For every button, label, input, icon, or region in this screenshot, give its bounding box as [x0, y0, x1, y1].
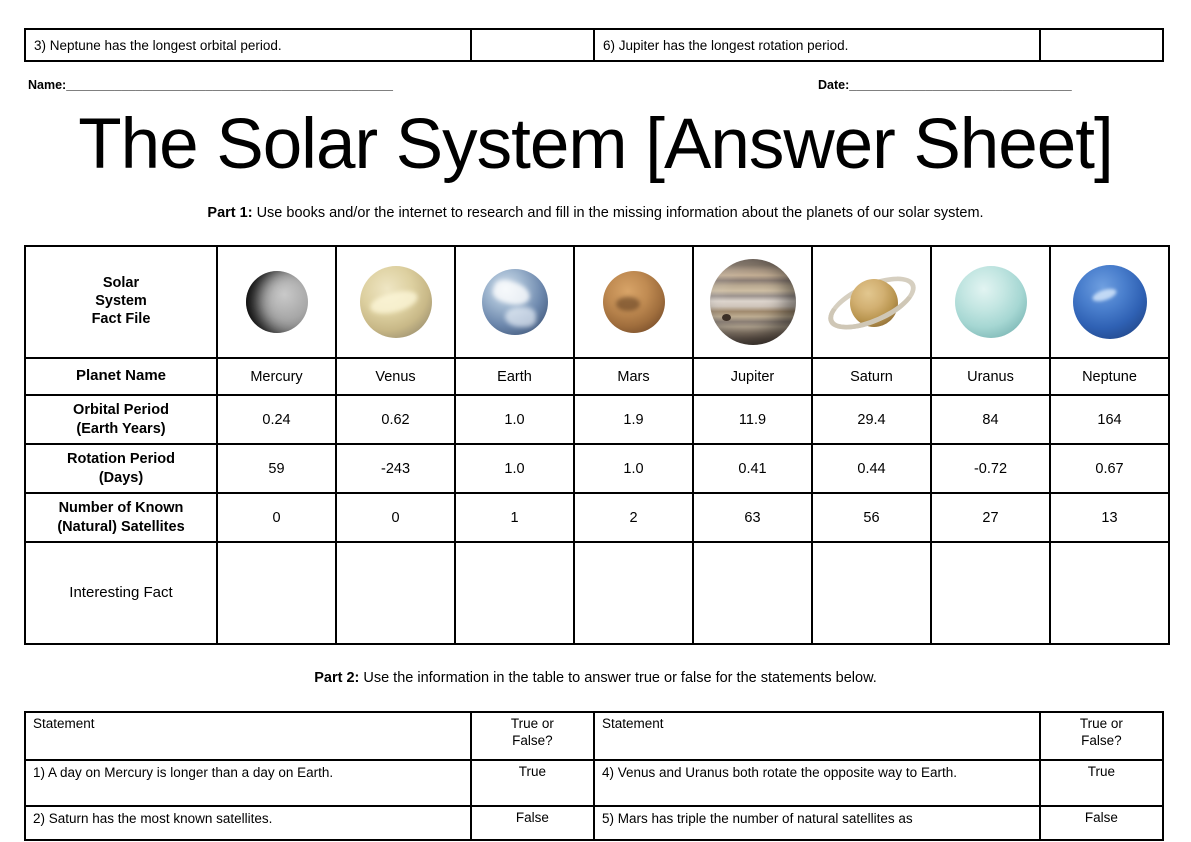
answer-cell-5[interactable]: False	[1040, 806, 1163, 840]
fact-file-title-line-1: Solar	[26, 275, 216, 293]
date-field[interactable]: Date:________________________________	[818, 78, 1072, 92]
planet-image-row: Solar System Fact File	[25, 246, 1169, 358]
orbital-period-earth[interactable]: 1.0	[455, 395, 574, 444]
answer-cell-3[interactable]	[471, 29, 594, 61]
venus-planet-icon	[360, 266, 432, 338]
statement-cell-1: 1) A day on Mercury is longer than a day…	[25, 760, 471, 806]
planet-image-cell-neptune	[1050, 246, 1169, 358]
rotation-period-earth[interactable]: 1.0	[455, 444, 574, 493]
row-label-interesting-fact: Interesting Fact	[25, 542, 217, 644]
satellites-neptune[interactable]: 13	[1050, 493, 1169, 542]
statement-cell-4: 4) Venus and Uranus both rotate the oppo…	[594, 760, 1040, 806]
part2-text: Use the information in the table to answ…	[359, 670, 876, 686]
part1-instruction: Part 1: Use books and/or the internet to…	[0, 205, 1191, 221]
solar-system-fact-file-table: Solar System Fact File	[24, 245, 1170, 645]
interesting-fact-venus[interactable]	[336, 542, 455, 644]
uranus-planet-icon	[955, 266, 1027, 338]
planet-image-cell-earth	[455, 246, 574, 358]
interesting-fact-mercury[interactable]	[217, 542, 336, 644]
orbital-period-neptune[interactable]: 164	[1050, 395, 1169, 444]
satellites-venus[interactable]: 0	[336, 493, 455, 542]
neptune-planet-icon	[1073, 265, 1147, 339]
statement-cell-3: 3) Neptune has the longest orbital perio…	[25, 29, 471, 61]
header-statement-right: Statement	[594, 712, 1040, 760]
planet-name-saturn: Saturn	[812, 358, 931, 395]
planet-name-row: Planet Name Mercury Venus Earth Mars Jup…	[25, 358, 1169, 395]
rotation-period-jupiter[interactable]: 0.41	[693, 444, 812, 493]
truefalse-statements-table: Statement True or False? Statement True …	[24, 711, 1164, 841]
part1-label: Part 1:	[207, 205, 252, 221]
header-answer-left-line1: True or	[479, 716, 586, 733]
rotation-period-row: Rotation Period (Days) 59 -243 1.0 1.0 0…	[25, 444, 1169, 493]
statement-cell-2: 2) Saturn has the most known satellites.	[25, 806, 471, 840]
answer-cell-6[interactable]	[1040, 29, 1163, 61]
header-answer-right: True or False?	[1040, 712, 1163, 760]
header-answer-left: True or False?	[471, 712, 594, 760]
row-label-orbital-period-line1: Orbital Period	[26, 401, 216, 419]
planet-image-cell-venus	[336, 246, 455, 358]
name-rule: ________________________________________…	[66, 78, 393, 92]
rotation-period-neptune[interactable]: 0.67	[1050, 444, 1169, 493]
interesting-fact-earth[interactable]	[455, 542, 574, 644]
answer-cell-1[interactable]: True	[471, 760, 594, 806]
planet-image-cell-mars	[574, 246, 693, 358]
part2-instruction: Part 2: Use the information in the table…	[0, 670, 1191, 686]
header-answer-left-line2: False?	[479, 733, 586, 750]
mars-planet-icon	[603, 271, 665, 333]
answer-cell-2[interactable]: False	[471, 806, 594, 840]
orbital-period-jupiter[interactable]: 11.9	[693, 395, 812, 444]
date-label: Date:	[818, 78, 849, 92]
orbital-period-saturn[interactable]: 29.4	[812, 395, 931, 444]
orbital-period-uranus[interactable]: 84	[931, 395, 1050, 444]
row-label-satellites-line1: Number of Known	[26, 499, 216, 517]
interesting-fact-neptune[interactable]	[1050, 542, 1169, 644]
header-answer-right-line1: True or	[1048, 716, 1155, 733]
jupiter-planet-icon	[710, 259, 796, 345]
date-rule: ________________________________	[849, 78, 1071, 92]
satellites-saturn[interactable]: 56	[812, 493, 931, 542]
satellites-mars[interactable]: 2	[574, 493, 693, 542]
planet-image-cell-uranus	[931, 246, 1050, 358]
saturn-planet-icon	[824, 265, 920, 339]
fact-file-title-line-2: System	[26, 293, 216, 311]
planet-image-cell-saturn	[812, 246, 931, 358]
rotation-period-mars[interactable]: 1.0	[574, 444, 693, 493]
earth-planet-icon	[482, 269, 548, 335]
row-label-rotation-period: Rotation Period (Days)	[25, 444, 217, 493]
rotation-period-venus[interactable]: -243	[336, 444, 455, 493]
orbital-period-mercury[interactable]: 0.24	[217, 395, 336, 444]
orbital-period-venus[interactable]: 0.62	[336, 395, 455, 444]
table-row: 1) A day on Mercury is longer than a day…	[25, 760, 1163, 806]
planet-name-neptune: Neptune	[1050, 358, 1169, 395]
row-label-planet-name: Planet Name	[25, 358, 217, 395]
name-date-line: Name:___________________________________…	[28, 78, 1168, 98]
carried-over-truefalse-table: 3) Neptune has the longest orbital perio…	[24, 28, 1164, 62]
satellites-row: Number of Known (Natural) Satellites 0 0…	[25, 493, 1169, 542]
name-label: Name:	[28, 78, 66, 92]
rotation-period-saturn[interactable]: 0.44	[812, 444, 931, 493]
saturn-ring-front	[820, 266, 922, 341]
statement-cell-6: 6) Jupiter has the longest rotation peri…	[594, 29, 1040, 61]
interesting-fact-row: Interesting Fact	[25, 542, 1169, 644]
rotation-period-mercury[interactable]: 59	[217, 444, 336, 493]
row-label-satellites: Number of Known (Natural) Satellites	[25, 493, 217, 542]
part2-label: Part 2:	[314, 670, 359, 686]
satellites-uranus[interactable]: 27	[931, 493, 1050, 542]
rotation-period-uranus[interactable]: -0.72	[931, 444, 1050, 493]
row-label-orbital-period-line2: (Earth Years)	[26, 420, 216, 438]
orbital-period-row: Orbital Period (Earth Years) 0.24 0.62 1…	[25, 395, 1169, 444]
planet-name-jupiter: Jupiter	[693, 358, 812, 395]
interesting-fact-jupiter[interactable]	[693, 542, 812, 644]
statement-cell-5: 5) Mars has triple the number of natural…	[594, 806, 1040, 840]
interesting-fact-mars[interactable]	[574, 542, 693, 644]
table-row: 2) Saturn has the most known satellites.…	[25, 806, 1163, 840]
row-label-rotation-period-line1: Rotation Period	[26, 450, 216, 468]
header-answer-right-line2: False?	[1048, 733, 1155, 750]
part1-text: Use books and/or the internet to researc…	[253, 205, 984, 221]
page-title: The Solar System [Answer Sheet]	[0, 108, 1191, 183]
planet-name-uranus: Uranus	[931, 358, 1050, 395]
satellites-earth[interactable]: 1	[455, 493, 574, 542]
table-row: 3) Neptune has the longest orbital perio…	[25, 29, 1163, 61]
name-field[interactable]: Name:___________________________________…	[28, 78, 393, 92]
planet-name-mercury: Mercury	[217, 358, 336, 395]
planet-name-mars: Mars	[574, 358, 693, 395]
truefalse-header-row: Statement True or False? Statement True …	[25, 712, 1163, 760]
orbital-period-mars[interactable]: 1.9	[574, 395, 693, 444]
row-label-orbital-period: Orbital Period (Earth Years)	[25, 395, 217, 444]
fact-file-title-line-3: Fact File	[26, 311, 216, 329]
mercury-planet-icon	[246, 271, 308, 333]
planet-image-cell-mercury	[217, 246, 336, 358]
interesting-fact-saturn[interactable]	[812, 542, 931, 644]
satellites-mercury[interactable]: 0	[217, 493, 336, 542]
interesting-fact-uranus[interactable]	[931, 542, 1050, 644]
header-statement-left: Statement	[25, 712, 471, 760]
fact-file-title: Solar System Fact File	[25, 246, 217, 358]
answer-cell-4[interactable]: True	[1040, 760, 1163, 806]
planet-image-cell-jupiter	[693, 246, 812, 358]
row-label-rotation-period-line2: (Days)	[26, 469, 216, 487]
row-label-satellites-line2: (Natural) Satellites	[26, 518, 216, 536]
planet-name-venus: Venus	[336, 358, 455, 395]
planet-name-earth: Earth	[455, 358, 574, 395]
satellites-jupiter[interactable]: 63	[693, 493, 812, 542]
